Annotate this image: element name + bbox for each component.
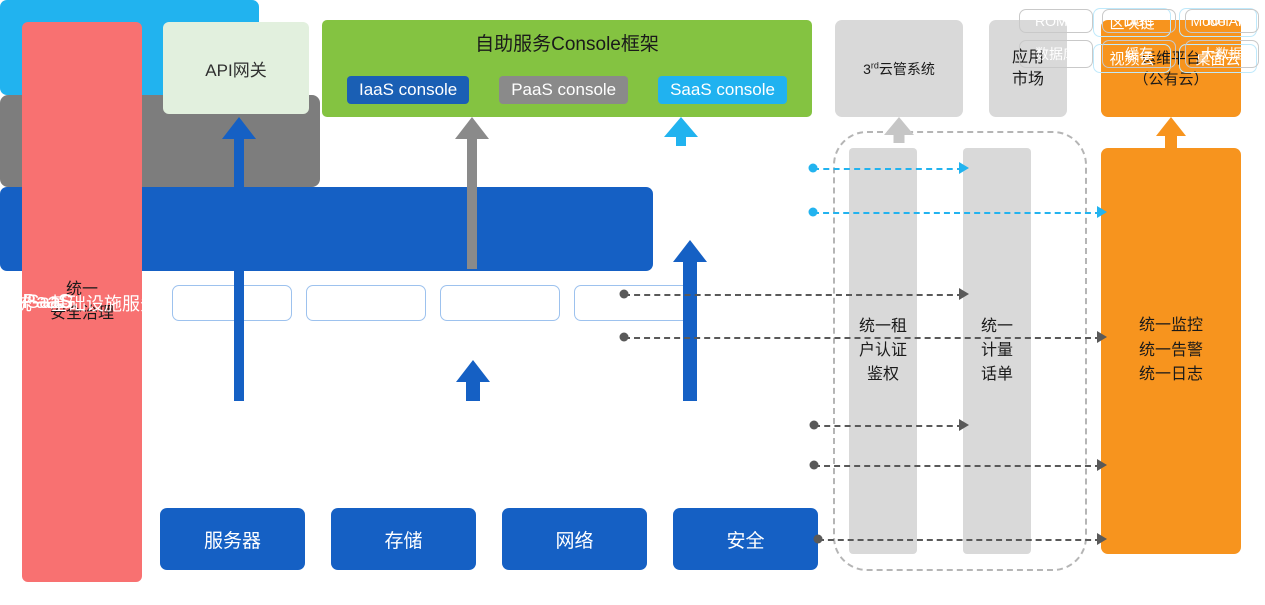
connector-infra-to-tenant-auth [814, 425, 963, 427]
connector-arrow-saas-to-ops [1097, 206, 1107, 218]
architecture-diagram: 统一 安全治理 API网关 自助服务Console框架 IaaS console… [0, 0, 1265, 605]
connector-saas-to-ops [813, 212, 1101, 214]
resource-box-network[interactable]: 网络 [502, 508, 647, 570]
connector-paas-to-tenant-auth [624, 294, 963, 296]
connector-arrow-infra-to-tenant-auth [959, 419, 969, 431]
infra-item-storage[interactable]: Storage [306, 285, 426, 321]
connector-paas-to-ops [624, 337, 1101, 339]
arrow-shared-to-third-party [884, 117, 914, 143]
arrow-ops-body-to-head [1156, 117, 1186, 149]
resource-box-security[interactable]: 安全 [673, 508, 818, 570]
connector-arrow-infra-to-ops [1097, 459, 1107, 471]
resource-label-storage: 存储 [384, 526, 422, 553]
resource-box-server[interactable]: 服务器 [160, 508, 305, 570]
resource-box-storage[interactable]: 存储 [331, 508, 476, 570]
connector-arrow-paas-to-tenant-auth [959, 288, 969, 300]
connector-infra-to-ops [814, 465, 1101, 467]
arrow-saas-to-console [664, 117, 698, 146]
arrow-infra-to-saas [673, 240, 707, 401]
infrastructure-title: 统一基础设施服务 [14, 290, 158, 316]
arrow-infra-to-api-gateway [222, 117, 256, 401]
connector-arrow-paas-to-ops [1097, 331, 1107, 343]
resource-label-network: 网络 [555, 526, 593, 553]
connector-arrow-resources-to-ops [1097, 533, 1107, 545]
connector-resources-to-ops [818, 539, 1101, 541]
arrow-infra-to-paas [456, 360, 490, 401]
connector-saas-to-metering [813, 168, 963, 170]
connector-arrow-saas-to-metering [959, 162, 969, 174]
infra-item-network[interactable]: Network [440, 285, 560, 321]
resource-label-server: 服务器 [204, 526, 261, 553]
arrow-paas-to-console [455, 117, 489, 269]
unified-infrastructure-bar[interactable]: 统一基础设施服务 Compute Storage Network CCE [0, 187, 653, 271]
resource-label-security: 安全 [726, 526, 764, 553]
